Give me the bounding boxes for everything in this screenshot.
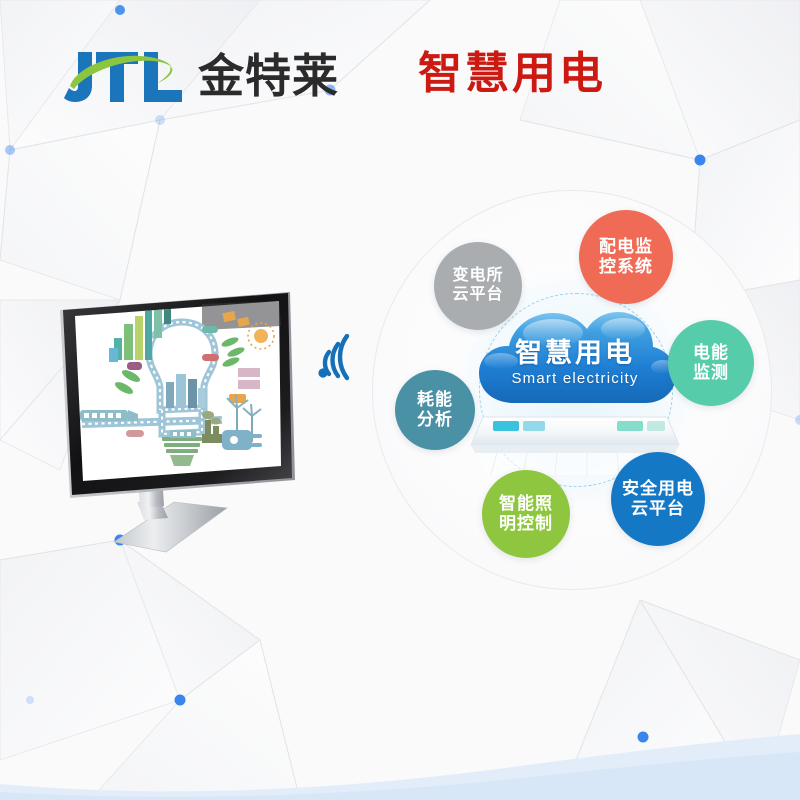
smart-electricity-diagram: 智慧用电 Smart electricity 变电所云平台配电监控系统电能监测耗… xyxy=(362,180,782,600)
bubble-label-line: 云平台 xyxy=(622,499,694,519)
bubble-label-line: 明控制 xyxy=(499,514,553,534)
bubble-label: 变电所云平台 xyxy=(452,267,503,305)
bubble-dian-neng-jian-ce[interactable]: 电能监测 xyxy=(668,320,754,406)
bubble-hao-neng-fen-xi[interactable]: 耗能分析 xyxy=(395,370,475,450)
bubble-label-line: 配电监 xyxy=(599,237,653,257)
bubble-label-line: 安全用电 xyxy=(622,479,694,499)
bubble-label-line: 云平台 xyxy=(452,286,503,305)
bubble-label-line: 电能 xyxy=(693,343,729,363)
bubble-label-line: 耗能 xyxy=(417,390,453,410)
bottom-wave-decoration xyxy=(0,680,800,800)
bubble-label-line: 分析 xyxy=(417,410,453,430)
brand-logo: 金特莱 xyxy=(62,46,339,106)
bubble-zhi-neng-zhao-ming[interactable]: 智能照明控制 xyxy=(482,470,570,558)
desktop-monitor xyxy=(52,280,352,570)
bubble-label: 智能照明控制 xyxy=(499,494,553,534)
bubble-bian-dian-suo[interactable]: 变电所云平台 xyxy=(434,242,522,330)
header: 金特莱 智慧用电 xyxy=(0,0,800,140)
bubble-pei-dian-jian-kong[interactable]: 配电监控系统 xyxy=(579,210,673,304)
bubble-label-line: 智能照 xyxy=(499,494,553,514)
page-title: 智慧用电 xyxy=(418,52,606,96)
cloud-shape xyxy=(479,312,676,403)
bubble-label-line: 监测 xyxy=(693,363,729,383)
bubble-label: 安全用电云平台 xyxy=(622,479,694,519)
bubble-label-line: 变电所 xyxy=(452,267,503,286)
bubble-label: 耗能分析 xyxy=(417,390,453,430)
brand-name-cn: 金特莱 xyxy=(198,53,339,99)
bubble-label-line: 控系统 xyxy=(599,257,653,277)
bubble-an-quan-yong-dian[interactable]: 安全用电云平台 xyxy=(611,452,705,546)
poster-canvas: 金特莱 智慧用电 xyxy=(0,0,800,800)
bubble-label: 电能监测 xyxy=(693,343,729,383)
bubble-label: 配电监控系统 xyxy=(599,237,653,277)
jtl-logo-icon xyxy=(62,46,184,106)
